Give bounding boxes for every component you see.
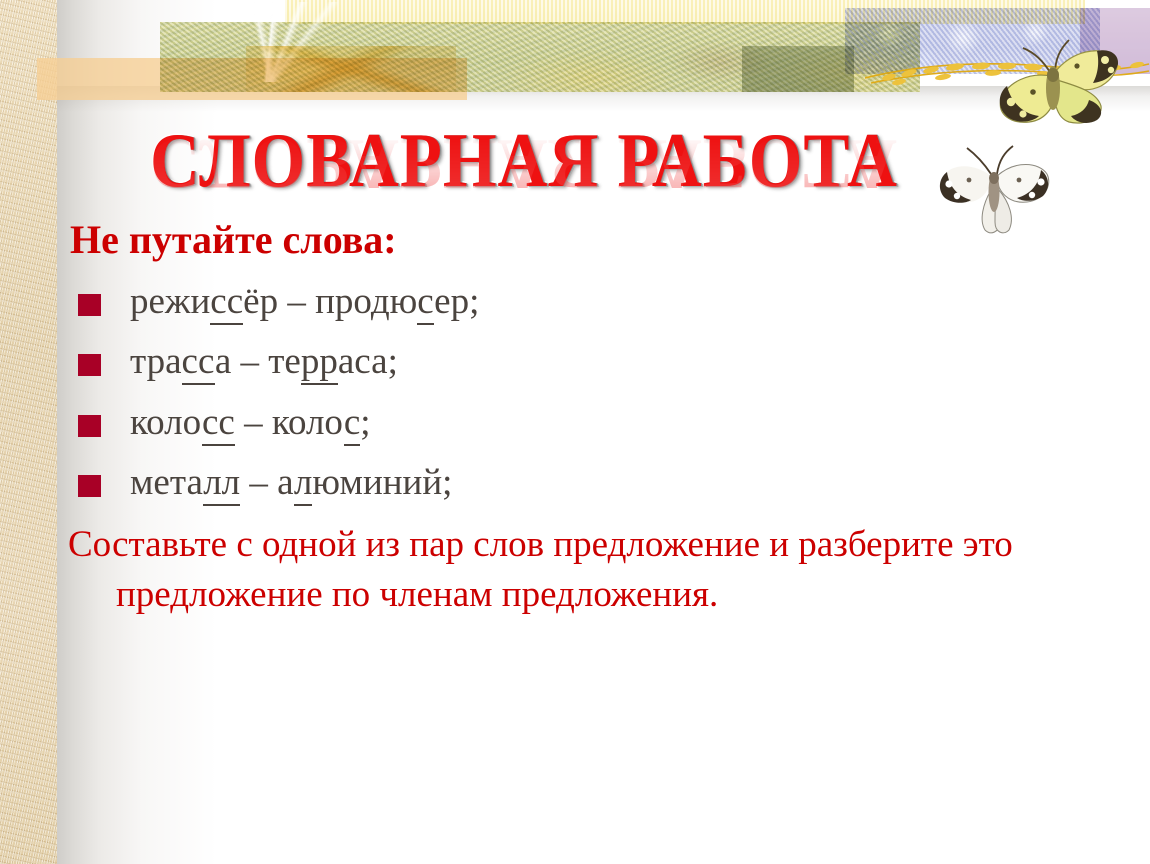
- pair-mark: сс: [210, 281, 243, 325]
- bullet-square-icon: [78, 354, 101, 376]
- pair-mid: а – те: [215, 341, 301, 382]
- page-title: СЛОВАРНАЯ РАБОТА СЛОВАРНАЯ РАБОТА: [150, 122, 920, 232]
- bullet-square-icon: [78, 475, 101, 497]
- task-paragraph: Составьте с одной из пар слов предложени…: [68, 520, 1140, 619]
- pair-pre: мета: [130, 462, 203, 503]
- pair-post: аса;: [338, 341, 398, 382]
- list-item: колосс – колос;: [60, 399, 1140, 446]
- pair-mark2: с: [344, 402, 360, 446]
- banner-layer-peach-rect: [37, 58, 467, 100]
- list-item: металл – алюминий;: [60, 459, 1140, 506]
- title-reflection: СЛОВАРНАЯ РАБОТА: [150, 128, 898, 200]
- pair-mark2: рр: [301, 341, 338, 385]
- pair-mark: сс: [182, 341, 215, 385]
- list-item: трасса – терраса;: [60, 338, 1140, 385]
- word-pairs-list: режиссёр – продюсер; трасса – терраса; к…: [60, 278, 1140, 506]
- pair-mid: – а: [240, 462, 294, 503]
- bullet-square-icon: [78, 415, 101, 437]
- slide: СЛОВАРНАЯ РАБОТА СЛОВАРНАЯ РАБОТА Не пут…: [0, 0, 1150, 864]
- slide-body: Не путайте слова: режиссёр – продюсер; т…: [60, 218, 1140, 620]
- bullet-square-icon: [78, 294, 101, 316]
- yellow-butterfly-icon: [985, 30, 1125, 140]
- pair-post: ;: [360, 402, 370, 443]
- pair-mark2: л: [294, 462, 312, 506]
- pair-mid: – коло: [235, 402, 344, 443]
- pair-post: ер;: [434, 281, 479, 322]
- sand-texture-strip: [0, 0, 57, 864]
- pair-post: юминий;: [312, 462, 452, 503]
- list-item: режиссёр – продюсер;: [60, 278, 1140, 325]
- banner-layer-grey-block: [742, 46, 854, 92]
- pair-pre: коло: [130, 402, 202, 443]
- pair-mark: сс: [202, 402, 235, 446]
- pair-pre: тра: [130, 341, 182, 382]
- decorative-banner: [0, 0, 1150, 92]
- white-butterfly-icon: [935, 140, 1055, 240]
- pair-pre: режи: [130, 281, 210, 322]
- pair-mid: ёр – продю: [243, 281, 417, 322]
- pair-mark2: с: [417, 281, 434, 325]
- pair-mark: лл: [203, 462, 240, 506]
